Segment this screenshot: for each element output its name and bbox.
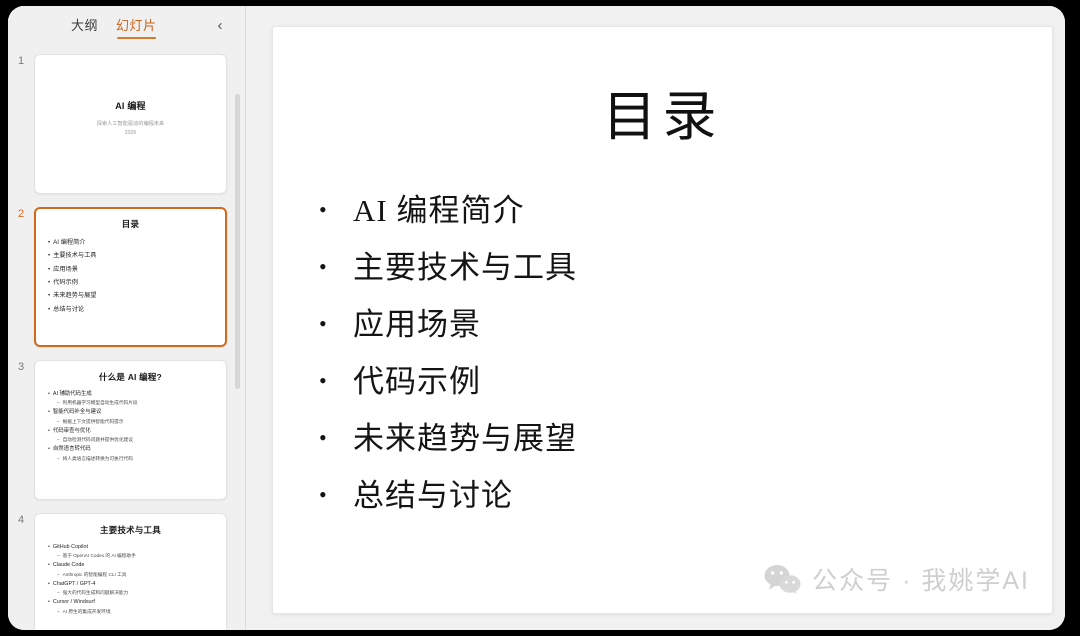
slide-bullet-list: • AI 编程简介 • 主要技术与工具 • 应用场景 • 代码示例 • 未来	[273, 189, 1052, 519]
sidebar-scrollbar[interactable]	[235, 94, 240, 624]
bullet-dot-icon: •	[319, 199, 353, 221]
slide-bullet-text: 应用场景	[353, 303, 481, 348]
presentation-app-window: 大纲 幻灯片 ‹ 1 AI 编程 探索人工智能驱动的编程未来 2026 2	[8, 6, 1065, 630]
slide-bullet-text: 代码示例	[353, 360, 481, 405]
thumbnail-bullet: AI 编程简介	[48, 236, 217, 249]
slide-thumbnail-1[interactable]: 1 AI 编程 探索人工智能驱动的编程未来 2026	[8, 54, 245, 194]
slide-bullet-item: • AI 编程简介	[319, 189, 1052, 234]
slide-thumbnail-list[interactable]: 1 AI 编程 探索人工智能驱动的编程未来 2026 2 目录 AI 编程简介	[8, 44, 245, 630]
slide-bullet-text: 总结与讨论	[353, 474, 513, 519]
thumbnail-bullet: 应用场景	[48, 263, 217, 276]
watermark: 公众号 · 我姚学AI	[764, 561, 1030, 597]
slide-thumbnail-card-3[interactable]: 什么是 AI 编程? AI 辅助代码生成 利用机器学习模型自动生成代码片段 智能…	[34, 360, 227, 500]
slide-canvas[interactable]: 目录 • AI 编程简介 • 主要技术与工具 • 应用场景 • 代码示例	[272, 26, 1053, 614]
panel-tabs: 大纲 幻灯片	[70, 12, 158, 39]
slide-navigator-panel: 大纲 幻灯片 ‹ 1 AI 编程 探索人工智能驱动的编程未来 2026 2	[8, 6, 245, 630]
sidebar-scrollbar-thumb[interactable]	[235, 94, 240, 389]
slide-bullet-item: • 总结与讨论	[319, 474, 1052, 519]
slide-thumbnail-card-4[interactable]: 主要技术与工具 GitHub Copilot 基于 OpenAI Codex 的…	[34, 513, 227, 630]
thumbnail-bullet: 自然语言转代码	[48, 444, 217, 454]
thumbnail-bullet: AI 辅助代码生成	[48, 389, 217, 399]
bullet-dot-icon: •	[319, 484, 353, 506]
thumbnail-bullet: 代码审查与优化	[48, 426, 217, 436]
thumbnail-title-3: 什么是 AI 编程?	[44, 371, 217, 383]
thumbnail-bullet: 代码示例	[48, 276, 217, 289]
watermark-text: 公众号 · 我姚学AI	[812, 561, 1030, 597]
slide-bullet-item: • 主要技术与工具	[319, 246, 1052, 291]
bullet-dot-icon: •	[319, 370, 353, 392]
slide-number-1: 1	[18, 54, 34, 67]
slide-title: 目录	[273, 72, 1052, 151]
bullet-dot-icon: •	[319, 427, 353, 449]
thumbnail-subtitle-line-1: 探索人工智能驱动的编程未来	[44, 120, 217, 129]
slide-number-4: 4	[18, 513, 34, 526]
thumbnail-title-2: 目录	[44, 218, 217, 230]
thumbnail-bullet: 主要技术与工具	[48, 249, 217, 262]
thumbnail-bullet: GitHub Copilot	[48, 542, 217, 552]
thumbnail-subtitle-line-2: 2026	[44, 129, 217, 138]
thumbnail-sub-bullet: Anthropic 的智能编程 CLI 工具	[48, 571, 217, 579]
thumbnail-bullet: 总结与讨论	[48, 303, 217, 316]
slide-thumbnail-card-1[interactable]: AI 编程 探索人工智能驱动的编程未来 2026	[34, 54, 227, 194]
slide-thumbnail-2[interactable]: 2 目录 AI 编程简介 主要技术与工具 应用场景 代码示例 未来趋势与展望 总…	[8, 207, 245, 347]
slide-bullet-text: AI 编程简介	[353, 189, 524, 234]
bullet-dot-icon: •	[319, 313, 353, 335]
slide-thumbnail-card-2[interactable]: 目录 AI 编程简介 主要技术与工具 应用场景 代码示例 未来趋势与展望 总结与…	[34, 207, 227, 347]
slide-bullet-item: • 代码示例	[319, 360, 1052, 405]
thumbnail-bullet: ChatGPT / GPT-4	[48, 579, 217, 589]
panel-header: 大纲 幻灯片 ‹	[8, 6, 245, 44]
slide-bullet-text: 未来趋势与展望	[353, 417, 577, 462]
thumbnail-sub-bullet: 基于 OpenAI Codex 的 AI 编程助手	[48, 552, 217, 560]
chevron-left-icon[interactable]: ‹	[211, 16, 229, 34]
thumbnail-sub-bullet: 根据上下文提供智能代码提示	[48, 418, 217, 426]
bullet-dot-icon: •	[319, 256, 353, 278]
slide-thumbnail-3[interactable]: 3 什么是 AI 编程? AI 辅助代码生成 利用机器学习模型自动生成代码片段 …	[8, 360, 245, 500]
thumbnail-sub-bullet: 将人类语言描述转换为可执行代码	[48, 455, 217, 463]
tab-slides[interactable]: 幻灯片	[115, 12, 158, 39]
thumbnail-sub-bullet: AI 原生的集成开发环境	[48, 608, 217, 616]
slide-number-3: 3	[18, 360, 34, 373]
thumbnail-bullets-3: AI 辅助代码生成 利用机器学习模型自动生成代码片段 智能代码补全与建议 根据上…	[44, 389, 217, 463]
tab-outline[interactable]: 大纲	[70, 12, 99, 39]
thumbnail-title-4: 主要技术与工具	[44, 524, 217, 536]
slide-number-2: 2	[18, 207, 34, 220]
thumbnail-title-1: AI 编程	[44, 99, 217, 112]
slide-stage: 目录 • AI 编程简介 • 主要技术与工具 • 应用场景 • 代码示例	[246, 6, 1065, 630]
thumbnail-sub-bullet: 利用机器学习模型自动生成代码片段	[48, 399, 217, 407]
wechat-icon	[764, 564, 802, 594]
thumbnail-sub-bullet: 强大的代码生成和问题解决能力	[48, 589, 217, 597]
thumbnail-sub-bullet: 自动检测代码问题并提供优化建议	[48, 436, 217, 444]
slide-bullet-item: • 应用场景	[319, 303, 1052, 348]
thumbnail-title-block-1: AI 编程 探索人工智能驱动的编程未来 2026	[44, 99, 217, 138]
slide-bullet-item: • 未来趋势与展望	[319, 417, 1052, 462]
thumbnail-bullet: 智能代码补全与建议	[48, 407, 217, 417]
thumbnail-bullet: Claude Code	[48, 560, 217, 570]
slide-thumbnail-4[interactable]: 4 主要技术与工具 GitHub Copilot 基于 OpenAI Codex…	[8, 513, 245, 630]
thumbnail-bullet: 未来趋势与展望	[48, 289, 217, 302]
thumbnail-bullets-2: AI 编程简介 主要技术与工具 应用场景 代码示例 未来趋势与展望 总结与讨论	[44, 236, 217, 316]
thumbnail-bullets-4: GitHub Copilot 基于 OpenAI Codex 的 AI 编程助手…	[44, 542, 217, 616]
slide-bullet-text: 主要技术与工具	[353, 246, 577, 291]
thumbnail-bullet: Cursor / Windsurf	[48, 597, 217, 607]
